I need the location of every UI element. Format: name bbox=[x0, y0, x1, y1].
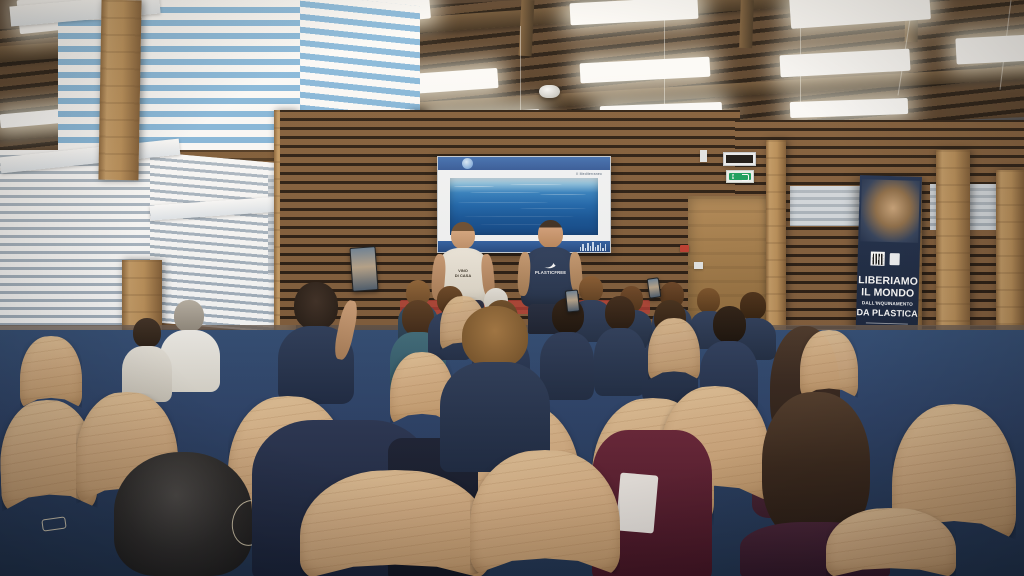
attendee bbox=[122, 318, 172, 398]
slide-caption: Il Mediterraneo bbox=[576, 172, 602, 176]
banner-line-2: IL MONDO bbox=[857, 287, 919, 299]
banner-line-4-prefix: DA bbox=[856, 307, 872, 317]
window-blinds-upper-left[interactable] bbox=[58, 0, 308, 150]
qr-code-icon[interactable] bbox=[870, 252, 884, 266]
ceiling-cross-beam bbox=[739, 0, 754, 48]
fire-alarm-call-point[interactable] bbox=[680, 245, 689, 252]
speaker-shirt-whale-icon bbox=[543, 262, 557, 269]
banner-line-4-strong: PLASTICA bbox=[872, 308, 918, 319]
chair-foreground[interactable] bbox=[470, 450, 620, 576]
attendee-with-phone bbox=[278, 282, 354, 402]
wall-plate bbox=[694, 262, 703, 269]
chair-foreground[interactable] bbox=[826, 508, 956, 576]
speaker-left-shirt-text: VINODI CASA bbox=[452, 268, 474, 280]
chair[interactable] bbox=[20, 336, 82, 408]
emergency-exit-sign bbox=[726, 170, 754, 183]
slide-header-bar bbox=[438, 157, 610, 170]
wall-plate bbox=[700, 150, 707, 162]
light-suspension-wire bbox=[520, 26, 521, 118]
attendee-mid-blond bbox=[440, 306, 550, 466]
chair[interactable] bbox=[648, 318, 700, 380]
window-blinds-upper-left-2[interactable] bbox=[300, 0, 420, 126]
app-badge-icon[interactable] bbox=[890, 253, 900, 265]
smartphone-recording[interactable] bbox=[349, 246, 378, 292]
chair-foreground[interactable] bbox=[300, 470, 490, 576]
conference-photo: Il Mediterraneo LIBERIAMO IL MONDO DA bbox=[0, 0, 1024, 576]
smartphone-recording[interactable] bbox=[565, 289, 580, 312]
wooden-column bbox=[98, 0, 141, 180]
slide-logo-icon bbox=[462, 158, 473, 169]
smoke-detector-icon bbox=[539, 85, 560, 98]
attendee bbox=[594, 296, 646, 392]
sea-turtle-image bbox=[860, 179, 920, 243]
white-paper bbox=[616, 472, 659, 533]
speaker-right-shirt-text: PLASTICFREE bbox=[535, 270, 565, 276]
ceiling-light-panel bbox=[955, 34, 1024, 65]
smartphone-recording[interactable] bbox=[647, 277, 662, 298]
chair[interactable] bbox=[800, 330, 858, 398]
banner-line-4: DA PLASTICA bbox=[856, 308, 918, 319]
slide-bar-marks bbox=[580, 242, 607, 251]
wall-clock-display bbox=[723, 152, 756, 166]
